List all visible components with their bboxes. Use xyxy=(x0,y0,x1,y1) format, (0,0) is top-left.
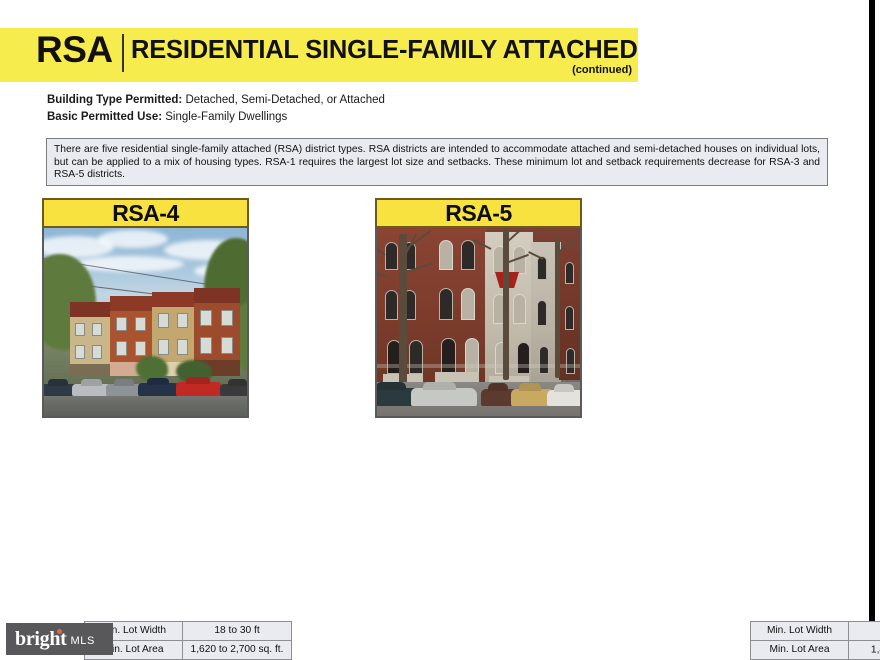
table-row: Min. Lot Width 16 ft.▼ xyxy=(751,622,880,641)
building-type-permitted-label: Building Type Permitted: xyxy=(47,94,182,106)
district-card-rsa4: RSA-4 xyxy=(42,198,249,418)
district-card-rsa5: RSA-5 xyxy=(375,198,582,418)
spec-key: Min. Lot Area xyxy=(751,641,849,660)
table-row: Min. Lot Area 1,440 sq. ft.▼ xyxy=(751,641,880,660)
watermark-brand-text: bright xyxy=(15,628,67,651)
table-row: Min. Lot Area 1,620 to 2,700 sq. ft. xyxy=(85,641,292,660)
district-photo-rsa5 xyxy=(375,228,582,418)
building-type-permitted-value: Detached, Semi-Detached, or Attached xyxy=(182,94,385,106)
building-type-permitted-line: Building Type Permitted: Detached, Semi-… xyxy=(47,92,747,109)
header-divider xyxy=(122,34,124,72)
district-photo-rsa4 xyxy=(42,228,249,418)
watermark-suffix-label: MLS xyxy=(71,635,95,647)
district-header-rsa4: RSA-4 xyxy=(42,198,249,228)
basic-permitted-use-label: Basic Permitted Use: xyxy=(47,111,162,123)
district-name-rsa4: RSA-4 xyxy=(112,200,179,227)
district-header-rsa5: RSA-5 xyxy=(375,198,582,228)
description-text: There are five residential single-family… xyxy=(54,144,820,182)
continued-note: (continued) xyxy=(572,64,632,76)
spec-value: 1,440 sq. ft.▼ xyxy=(849,641,880,660)
spec-value: 1,620 to 2,700 sq. ft. xyxy=(183,641,292,660)
basic-permitted-use-value: Single-Family Dwellings xyxy=(162,111,287,123)
watermark-accent-dot-icon xyxy=(57,629,62,634)
description-box: There are five residential single-family… xyxy=(46,138,828,186)
page-header-banner: RSA RESIDENTIAL SINGLE-FAMILY ATTACHED (… xyxy=(0,28,638,82)
spec-value: 18 to 30 ft xyxy=(183,622,292,641)
basic-permitted-use-line: Basic Permitted Use: Single-Family Dwell… xyxy=(47,109,747,126)
page-edge-bar xyxy=(869,0,875,660)
district-code-label: RSA xyxy=(36,29,113,71)
spec-value: 16 ft.▼ xyxy=(849,622,880,641)
spec-key: Min. Lot Width xyxy=(751,622,849,641)
document-page: RSA RESIDENTIAL SINGLE-FAMILY ATTACHED (… xyxy=(0,0,880,660)
table-row: Min. Lot Width 18 to 30 ft xyxy=(85,622,292,641)
spec-table-rsa4: Min. Lot Width 18 to 30 ft Min. Lot Area… xyxy=(84,621,292,660)
spec-table-rsa5: Min. Lot Width 16 ft.▼ Min. Lot Area 1,4… xyxy=(750,621,880,660)
spec-value-text: 1,440 sq. ft. xyxy=(871,644,880,655)
page-title: RESIDENTIAL SINGLE-FAMILY ATTACHED xyxy=(131,36,638,65)
district-name-rsa5: RSA-5 xyxy=(445,200,512,227)
mls-watermark: bright MLS xyxy=(6,623,113,655)
permitted-info-block: Building Type Permitted: Detached, Semi-… xyxy=(47,92,747,126)
